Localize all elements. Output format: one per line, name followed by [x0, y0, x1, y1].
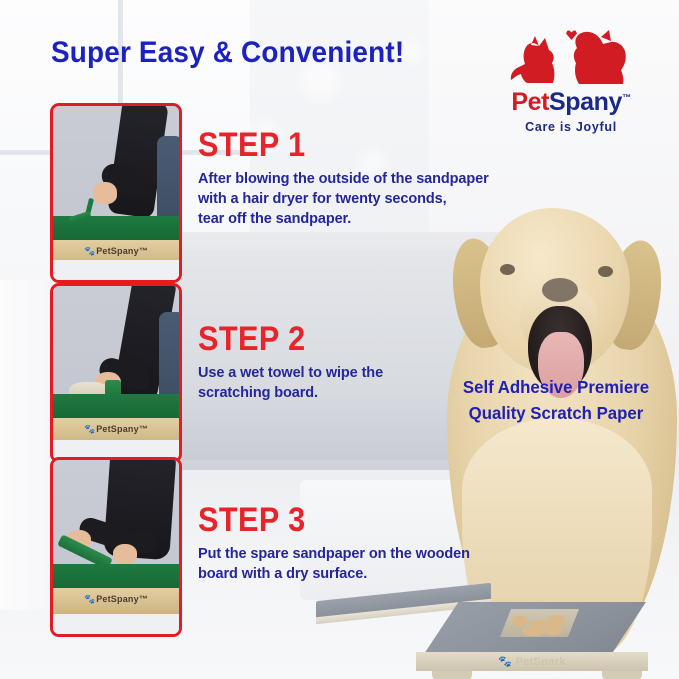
logo-word-pet: Pet [511, 88, 549, 116]
paw-icon: 🐾 [84, 594, 94, 604]
promo-text: Self Adhesive Premiere Quality Scratch P… [445, 374, 668, 427]
paw-icon: 🐾 [498, 656, 512, 668]
brand-logo: PetSpany™ Care is Joyful [496, 28, 646, 140]
board-brand-label-2: 🐾PetSpany™ [50, 424, 182, 435]
paw-icon: 🐾 [84, 424, 94, 434]
step-3-title: STEP 3 [198, 503, 443, 537]
product-wooden-base: 🐾 PetSpark [416, 652, 648, 671]
promo-line-2: Quality Scratch Paper [445, 400, 668, 426]
infographic-canvas: Super Easy & Convenient! PetSpany™ Care … [0, 0, 679, 679]
board-brand-label-1: 🐾PetSpany™ [50, 246, 182, 257]
step-photo-3: 🐾PetSpany™ [50, 457, 182, 637]
page-title: Super Easy & Convenient! [51, 36, 404, 70]
step-3-body: Put the spare sandpaper on the wooden bo… [198, 544, 470, 584]
step-photo-1: 🐾PetSpany™ [50, 103, 182, 283]
paw-icon: 🐾 [84, 246, 94, 256]
step-block-1: STEP 1 After blowing the outside of the … [198, 128, 489, 229]
board-brand-label-3: 🐾PetSpany™ [50, 594, 182, 605]
step-photo-2: 🐾PetSpany™ [50, 283, 182, 463]
logo-word-spany: Spany [549, 88, 622, 116]
product-emboss-label: 🐾 PetSpark [416, 655, 648, 668]
step-2-title: STEP 2 [198, 322, 365, 356]
logo-tagline: Care is Joyful [496, 120, 646, 134]
promo-line-1: Self Adhesive Premiere [445, 374, 668, 400]
step-1-body: After blowing the outside of the sandpap… [198, 169, 489, 229]
step-1-title: STEP 1 [198, 128, 460, 162]
step-block-2: STEP 2 Use a wet towel to wipe the scrat… [198, 322, 383, 403]
logo-animals [496, 28, 646, 90]
product-photo: 🐾 PetSpark [316, 586, 679, 679]
logo-trademark: ™ [622, 93, 631, 103]
step-2-body: Use a wet towel to wipe the scratching b… [198, 363, 383, 403]
logo-wordmark: PetSpany™ [496, 90, 646, 115]
step-block-3: STEP 3 Put the spare sandpaper on the wo… [198, 503, 470, 584]
